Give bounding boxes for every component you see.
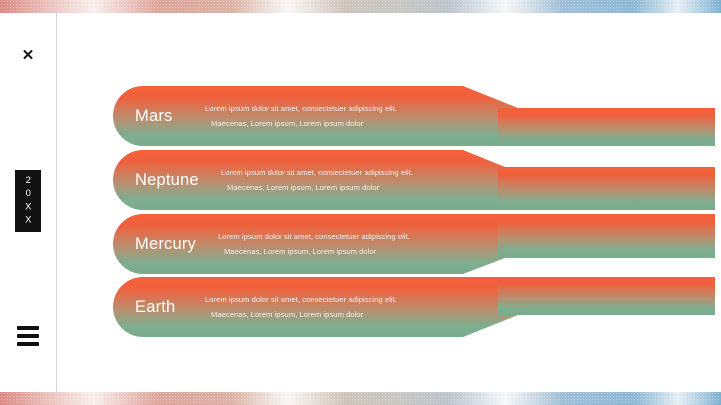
menu-bar-2	[17, 334, 39, 338]
row-description: Lorem ipsum dolor sit amet, consectetuer…	[218, 214, 518, 274]
left-sidebar: ✕ 20XX	[0, 13, 57, 392]
bottom-band-texture	[0, 392, 721, 405]
row-description-line-1: Lorem ipsum dolor sit amet, consectetuer…	[205, 105, 505, 113]
close-icon[interactable]: ✕	[0, 48, 56, 63]
row-description-line-2: Maecenas, Lorem ipsum, Lorem ipsum dolor	[205, 311, 505, 319]
bottom-gradient-band	[0, 392, 721, 405]
row-description-line-2: Maecenas, Lorem ipsum, Lorem ipsum dolor	[218, 248, 518, 256]
row-description: Lorem ipsum dolor sit amet, consectetuer…	[205, 86, 505, 146]
top-band-texture	[0, 0, 721, 13]
list-item[interactable]: Neptune Lorem ipsum dolor sit amet, cons…	[113, 150, 715, 210]
row-description-line-2: Maecenas, Lorem ipsum, Lorem ipsum dolor	[221, 184, 521, 192]
row-description-line-2: Maecenas, Lorem ipsum, Lorem ipsum dolor	[205, 120, 505, 128]
year-badge: 20XX	[15, 170, 41, 232]
row-description: Lorem ipsum dolor sit amet, consectetuer…	[205, 277, 505, 337]
menu-bar-3	[17, 342, 39, 346]
hamburger-menu-icon[interactable]	[17, 326, 39, 346]
list-item[interactable]: Mercury Lorem ipsum dolor sit amet, cons…	[113, 214, 715, 274]
row-description-line-1: Lorem ipsum dolor sit amet, consectetuer…	[205, 296, 505, 304]
year-label: 20XX	[23, 175, 33, 228]
top-gradient-band	[0, 0, 721, 13]
row-title: Neptune	[135, 150, 235, 210]
list-item[interactable]: Mars Lorem ipsum dolor sit amet, consect…	[113, 86, 715, 146]
list-item[interactable]: Earth Lorem ipsum dolor sit amet, consec…	[113, 277, 715, 337]
slide-canvas: ✕ 20XX	[0, 0, 721, 405]
row-description-line-1: Lorem ipsum dolor sit amet, consectetuer…	[218, 233, 518, 241]
menu-bar-1	[17, 326, 39, 330]
main-content-area: Mars Lorem ipsum dolor sit amet, consect…	[58, 13, 721, 392]
row-description: Lorem ipsum dolor sit amet, consectetuer…	[221, 150, 521, 210]
row-description-line-1: Lorem ipsum dolor sit amet, consectetuer…	[221, 169, 521, 177]
